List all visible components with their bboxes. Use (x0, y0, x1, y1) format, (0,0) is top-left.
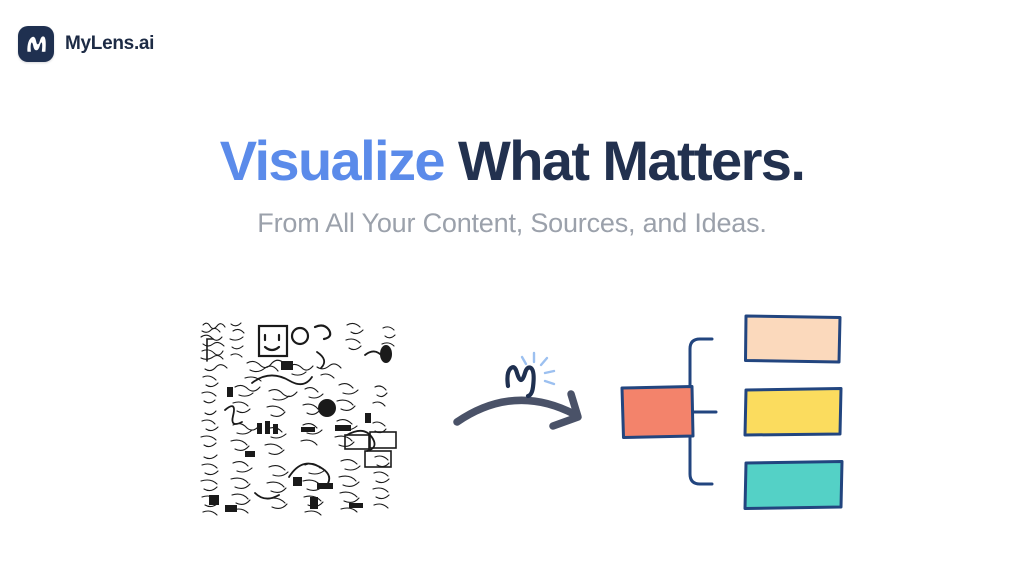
mylens-logo-icon (18, 26, 54, 62)
headline-accent: Visualize (220, 129, 444, 192)
mind-map (612, 300, 852, 540)
concept-illustration (0, 290, 1024, 540)
brand-logo[interactable]: MyLens.ai (18, 26, 154, 62)
headline-base: What Matters. (458, 129, 804, 192)
brand-name: MyLens.ai (65, 33, 154, 55)
child-node-yellow[interactable] (745, 389, 841, 436)
child-node-teal[interactable] (745, 462, 842, 509)
page-title: Visualize What Matters. (0, 131, 1024, 191)
sparkle-m-glyph (507, 367, 533, 396)
page-subtitle: From All Your Content, Sources, and Idea… (0, 208, 1024, 239)
parent-node[interactable] (622, 387, 693, 438)
transform-arrow (452, 350, 602, 450)
messy-scribble-block (197, 317, 403, 520)
child-node-peach[interactable] (746, 316, 841, 362)
